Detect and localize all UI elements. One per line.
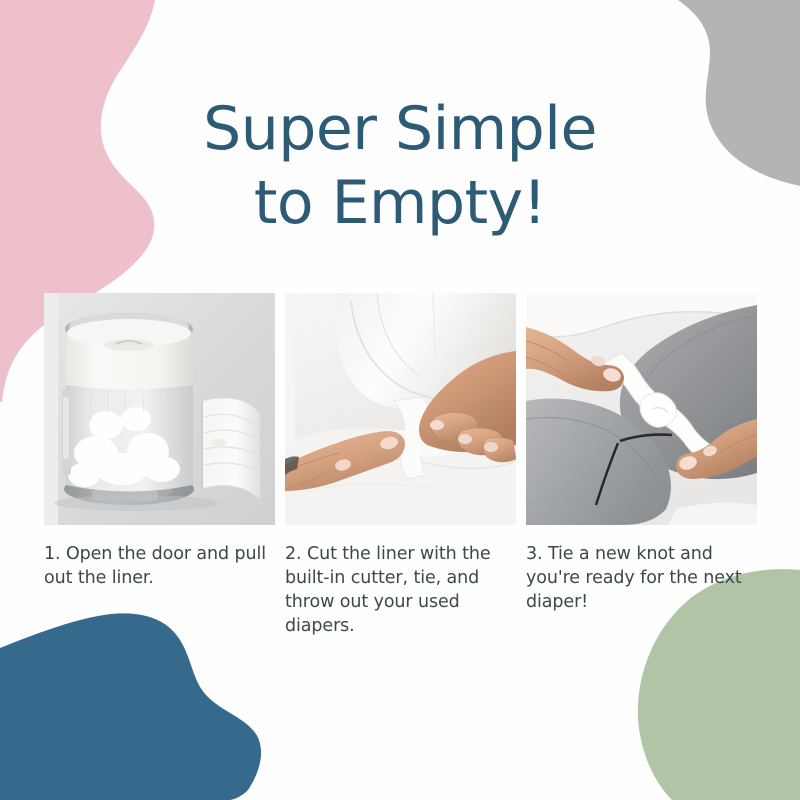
step-item: 3. Tie a new knot and you're ready for t… [526, 293, 757, 638]
step-item: 2. Cut the liner with the built-in cutte… [285, 293, 516, 638]
step-3-photo [526, 293, 757, 525]
diaper-pail-open-door-illustration [44, 293, 275, 525]
page-title: Super Simple to Empty! [0, 92, 800, 240]
step-2-photo [285, 293, 516, 525]
steps-row: 1. Open the door and pull out the liner. [44, 293, 758, 638]
page-title-line-1: Super Simple [0, 92, 800, 166]
hands-tying-knot-illustration [526, 293, 757, 525]
step-item: 1. Open the door and pull out the liner. [44, 293, 275, 638]
step-1-caption: 1. Open the door and pull out the liner. [44, 542, 275, 590]
poster-canvas: Super Simple to Empty! [0, 0, 800, 800]
page-title-line-2: to Empty! [0, 166, 800, 240]
step-3-caption: 3. Tie a new knot and you're ready for t… [526, 542, 757, 614]
step-2-caption: 2. Cut the liner with the built-in cutte… [285, 542, 516, 638]
step-1-photo [44, 293, 275, 525]
hands-cutting-liner-illustration [285, 293, 516, 525]
blue-blob-shape [0, 613, 261, 800]
